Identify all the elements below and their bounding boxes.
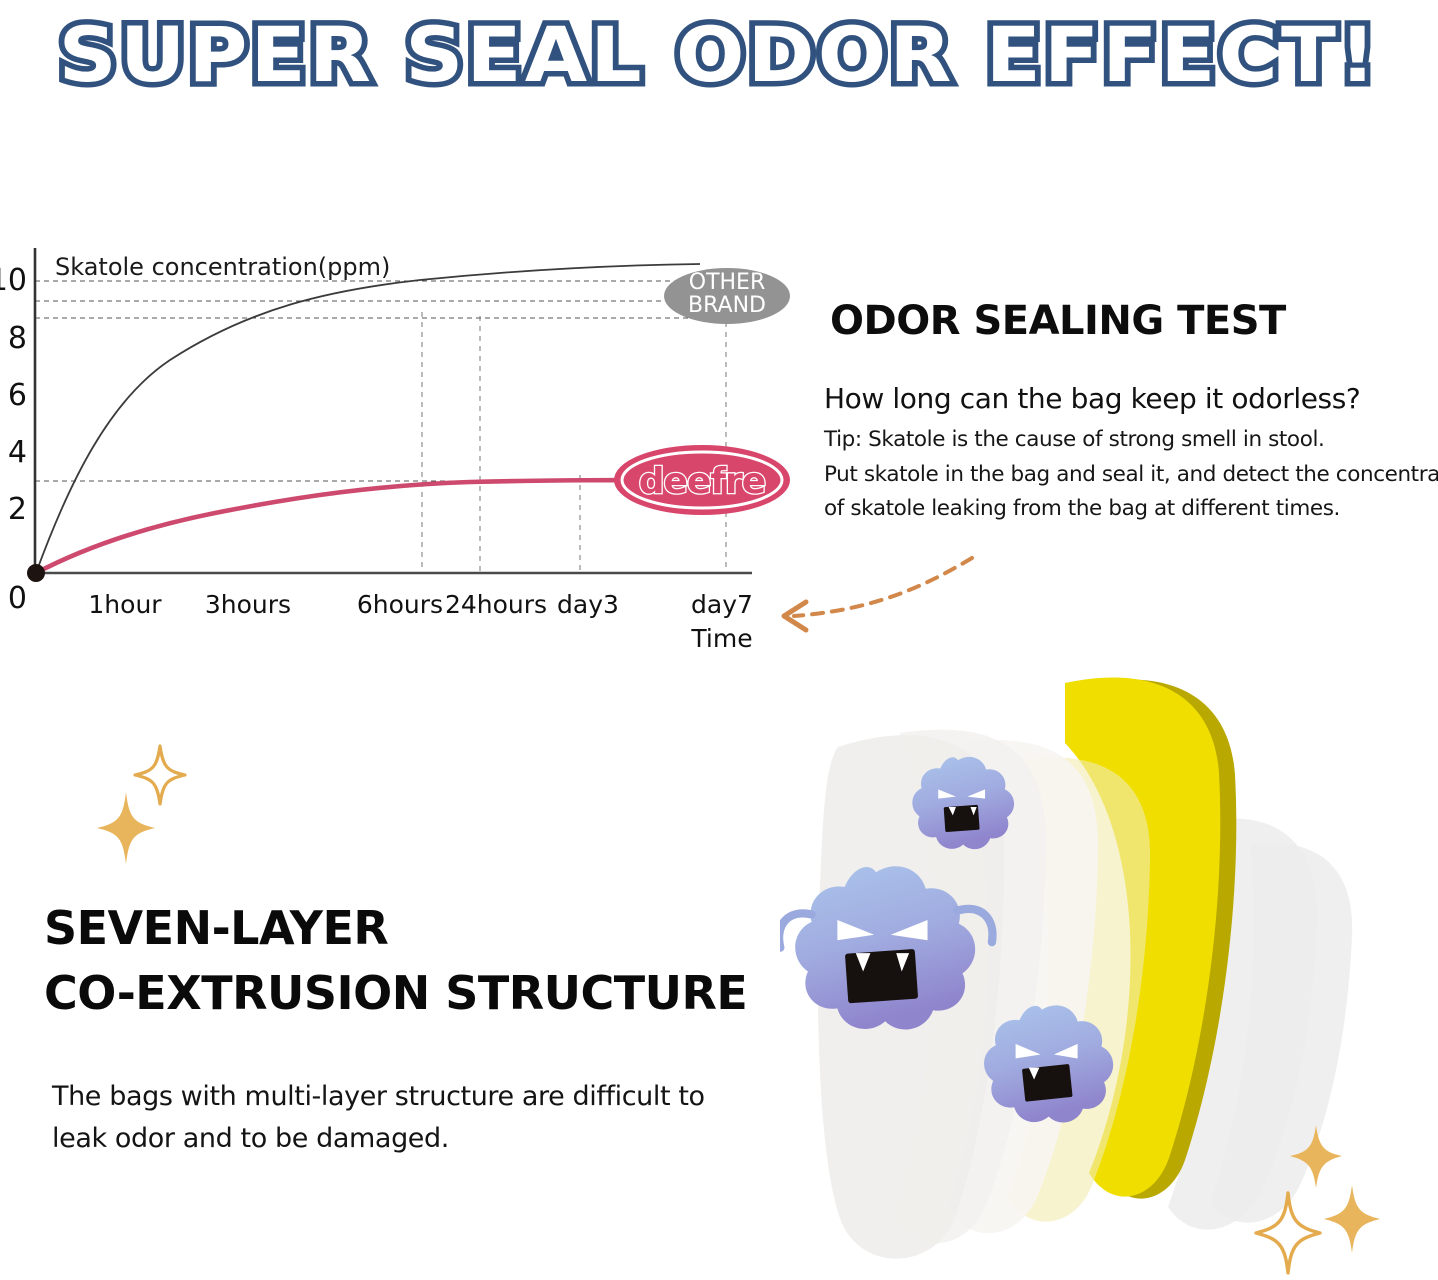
- odor-tip-line-1: Tip: Skatole is the cause of strong smel…: [824, 424, 1424, 457]
- svg-text:day3: day3: [557, 590, 619, 619]
- svg-text:10: 10: [0, 263, 27, 298]
- svg-text:6hours: 6hours: [357, 590, 443, 619]
- seven-layer-heading-line1: SEVEN-LAYER: [40, 905, 392, 951]
- deefre-logo-text: deefre: [639, 461, 765, 502]
- sparkle-filled-icon-2: [1324, 1185, 1380, 1253]
- svg-text:2: 2: [8, 492, 27, 527]
- seven-layer-body: The bags with multi-layer structure are …: [52, 1076, 830, 1160]
- svg-text:Time: Time: [690, 624, 752, 650]
- chart-x-ticks: 1hour 3hours 6hours 24hours day3 day7 Ti…: [88, 590, 753, 650]
- svg-text:3hours: 3hours: [205, 590, 291, 619]
- curved-arrow-icon: [762, 540, 1012, 650]
- other-brand-label-line1: OTHER: [689, 270, 765, 295]
- chart-legend-other-brand: OTHER BRAND: [664, 268, 790, 324]
- odor-tip-line-3: of skatole leaking from the bag at diffe…: [824, 493, 1424, 526]
- chart-line-other-brand: [36, 264, 700, 573]
- odor-chart: 10 8 6 4 2 0 Skatole concentration(ppm) …: [0, 230, 790, 650]
- svg-text:1hour: 1hour: [88, 590, 162, 619]
- seven-layer-heading-line2: CO-EXTRUSION STRUCTURE: [40, 970, 751, 1016]
- svg-text:24hours: 24hours: [445, 590, 547, 619]
- sparkles-left: [88, 726, 228, 866]
- svg-text:0: 0: [8, 581, 27, 616]
- sparkle-outline-icon: [135, 746, 185, 804]
- chart-gridlines-horizontal: [35, 281, 745, 481]
- seven-layer-panel: SEVEN-LAYER CO-EXTRUSION STRUCTURE The b…: [40, 905, 830, 1160]
- poster-root: SUPER SEAL ODOR EFFECT!: [0, 0, 1438, 1280]
- svg-text:day7: day7: [691, 590, 753, 619]
- banner-title-text: SUPER SEAL ODOR EFFECT!: [59, 17, 1379, 93]
- odor-question: How long can the bag keep it odorless?: [824, 382, 1424, 415]
- odor-tip-line-2: Put skatole in the bag and seal it, and …: [824, 459, 1424, 492]
- chart-legend-deefre: deefre: [614, 445, 790, 515]
- svg-text:6: 6: [8, 378, 27, 413]
- odor-sealing-panel: ODOR SEALING TEST How long can the bag k…: [824, 300, 1424, 526]
- other-brand-label-line2: BRAND: [688, 293, 766, 318]
- chart-line-deefre: [36, 480, 700, 573]
- chart-gridlines-vertical: [422, 292, 726, 573]
- sparkle-filled-icon: [97, 792, 155, 864]
- seven-layer-body-line1: The bags with multi-layer structure are …: [52, 1076, 830, 1118]
- seven-layer-heading-line1-text: SEVEN-LAYER: [44, 901, 388, 955]
- svg-text:4: 4: [8, 435, 27, 470]
- chart-origin-dot: [27, 564, 45, 582]
- chart-axis-title: Skatole concentration(ppm): [55, 253, 390, 281]
- chart-y-ticks: 10 8 6 4 2 0: [0, 263, 27, 616]
- seven-layer-body-line2: leak odor and to be damaged.: [52, 1118, 830, 1160]
- odor-heading-text: ODOR SEALING TEST: [830, 298, 1286, 344]
- svg-text:8: 8: [8, 321, 27, 356]
- bag-layers-illustration: [780, 655, 1438, 1280]
- seven-layer-heading-line2-text: CO-EXTRUSION STRUCTURE: [44, 966, 747, 1020]
- odor-heading: ODOR SEALING TEST: [824, 300, 1292, 342]
- banner-title: SUPER SEAL ODOR EFFECT!: [0, 0, 1438, 110]
